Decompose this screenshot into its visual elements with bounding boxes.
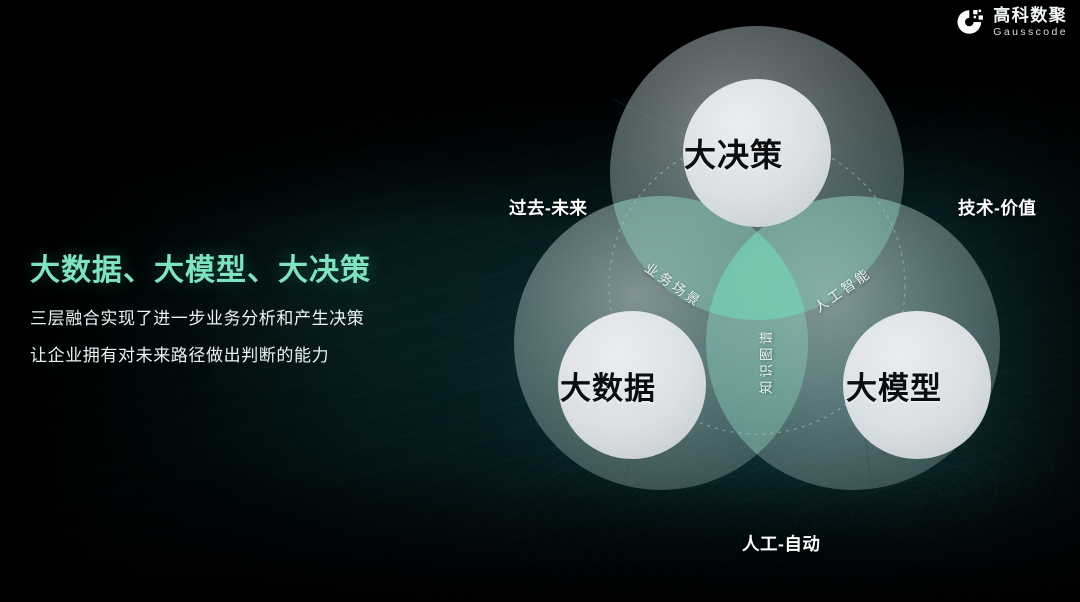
- venn-diagram: 业务场景 人工智能 知识图谱 大决策 大数据 大模型: [497, 13, 1017, 569]
- slide-canvas: 高科数聚 Gausscode 大数据、大模型、大决策 三层融合实现了进一步业务分…: [0, 0, 1080, 602]
- axis-label-left: 过去-未来: [509, 195, 587, 220]
- copy-block: 大数据、大模型、大决策 三层融合实现了进一步业务分析和产生决策 让企业拥有对未来…: [30, 252, 460, 369]
- axis-label-right: 技术-价值: [958, 195, 1036, 220]
- venn-core-label-decision: 大决策: [684, 130, 783, 176]
- axis-label-bottom: 人工-自动: [742, 531, 820, 556]
- intersection-label-knowledge-graph: 知识图谱: [755, 328, 775, 394]
- venn-core-label-bigdata: 大数据: [560, 363, 656, 408]
- page-title: 大数据、大模型、大决策: [30, 252, 460, 290]
- subtitle-line-1: 三层融合实现了进一步业务分析和产生决策: [30, 306, 460, 332]
- subtitle-line-2: 让企业拥有对未来路径做出判断的能力: [30, 343, 460, 369]
- venn-core-label-bigmodel: 大模型: [846, 363, 942, 408]
